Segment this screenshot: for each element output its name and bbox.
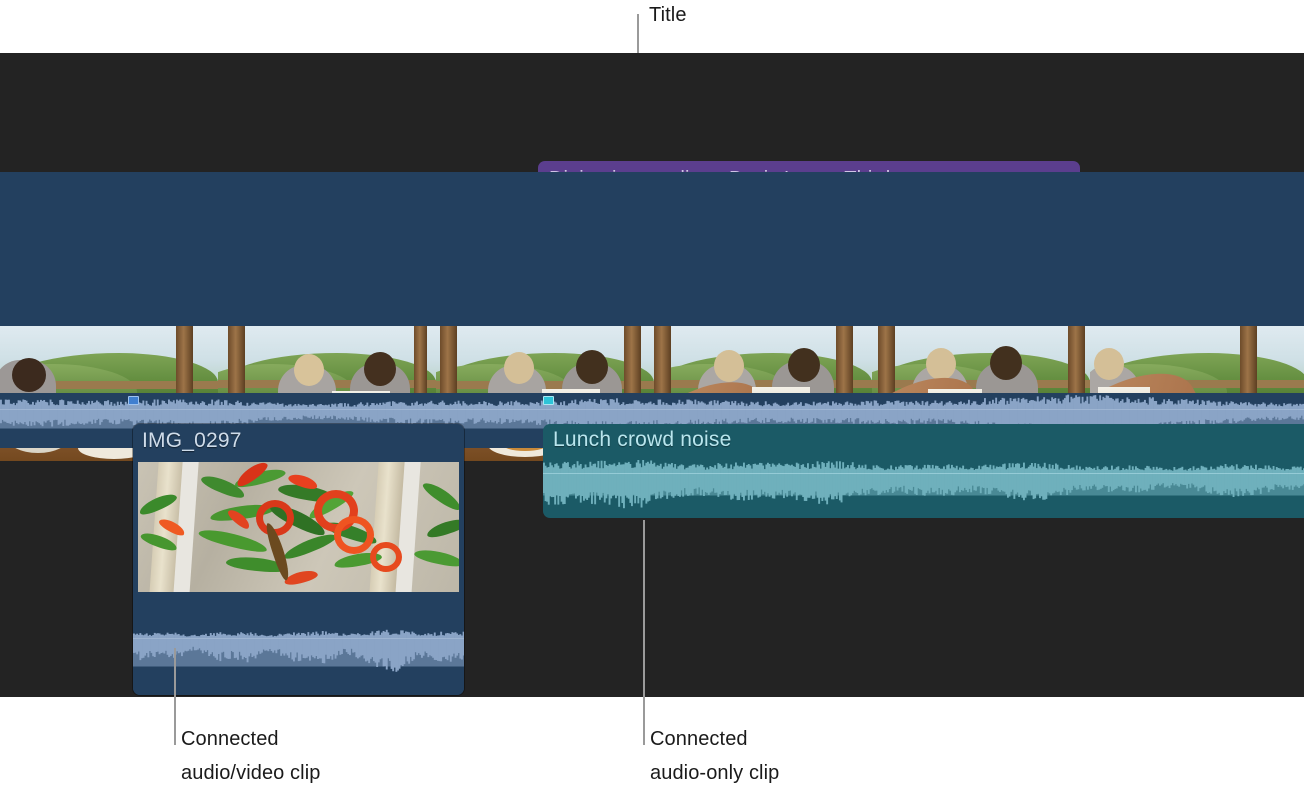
av-clip-waveform	[133, 627, 464, 695]
connected-av-clip[interactable]: IMG_0297	[133, 424, 464, 695]
timeline-panel: Dining in paradise - Basic Lower Third	[0, 53, 1304, 697]
callout-title-label: Title	[649, 3, 687, 28]
audio-clip-waveform-graphic	[543, 460, 1304, 518]
av-clip-name: IMG_0297	[142, 429, 242, 453]
leader-line-audio-clip	[643, 520, 645, 745]
callout-av-clip-label-line2: audio/video clip	[181, 761, 320, 786]
callout-audio-clip-label-line1: Connected	[650, 727, 748, 752]
primary-storyline[interactable]	[0, 172, 1304, 394]
av-clip-connection-marker[interactable]	[128, 396, 139, 405]
waveform-midline	[0, 409, 1304, 410]
audio-clip-waveform	[543, 460, 1304, 518]
waveform-midline	[543, 473, 1304, 474]
callout-av-clip-label-line1: Connected	[181, 727, 279, 752]
av-clip-thumbnail	[138, 462, 459, 592]
audio-clip-name: Lunch crowd noise	[553, 428, 732, 452]
waveform-midline	[133, 638, 464, 639]
audio-clip-connection-marker[interactable]	[543, 396, 554, 405]
leader-line-av-clip	[174, 648, 176, 745]
connected-audio-clip[interactable]: Lunch crowd noise	[543, 424, 1304, 518]
callout-audio-clip-label-line2: audio-only clip	[650, 761, 779, 786]
